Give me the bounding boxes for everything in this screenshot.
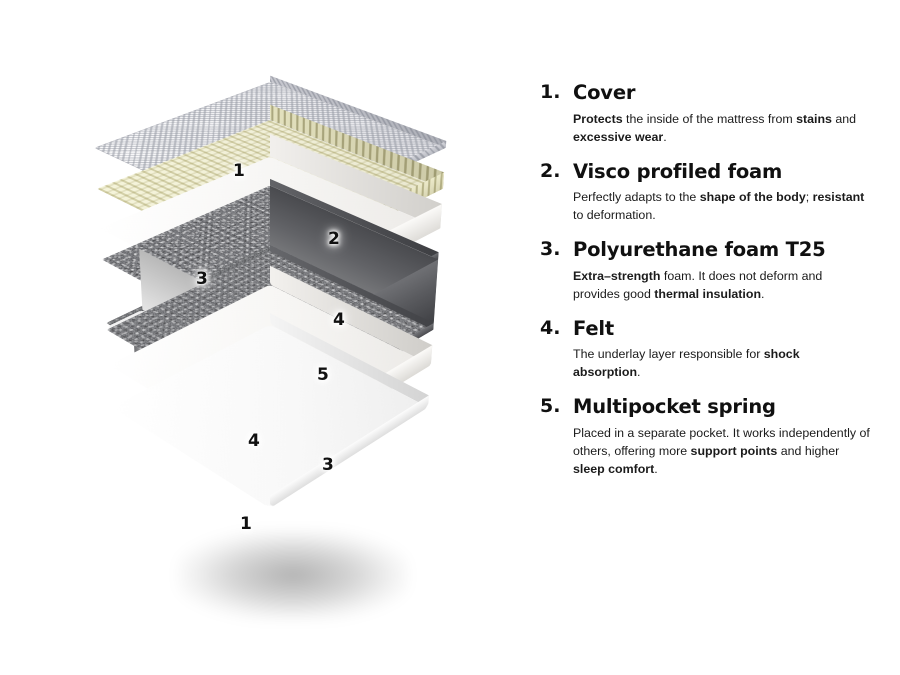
- legend-item-number: 3.: [540, 239, 573, 304]
- figure-label-visco-foam: 2: [328, 231, 340, 248]
- figure-label-cover-bottom: 1: [240, 516, 252, 533]
- figure-label-multipocket: 5: [317, 367, 329, 384]
- legend-item-1: 1.CoverProtects the inside of the mattre…: [540, 82, 870, 147]
- legend-item-description: Perfectly adapts to the shape of the bod…: [573, 189, 870, 225]
- infographic-root: 12345431 1.CoverProtects the inside of t…: [0, 0, 900, 675]
- legend-item-description: Protects the inside of the mattress from…: [573, 111, 870, 147]
- legend-item-3: 3.Polyurethane foam T25Extra–strength fo…: [540, 239, 870, 304]
- figure-label-pu-foam-bottom: 3: [322, 457, 334, 474]
- mattress-exploded-diagram: 12345431: [60, 60, 480, 620]
- figure-label-cover-top: 1: [233, 163, 245, 180]
- legend-item-5: 5.Multipocket springPlaced in a separate…: [540, 396, 870, 478]
- legend-item-number: 1.: [540, 82, 573, 147]
- legend-item-description: Placed in a separate pocket. It works in…: [573, 425, 870, 479]
- legend-item-title: Felt: [573, 318, 870, 340]
- legend-item-description: The underlay layer responsible for shock…: [573, 346, 870, 382]
- legend-item-number: 2.: [540, 161, 573, 226]
- legend-item-title: Visco profiled foam: [573, 161, 870, 183]
- legend-item-number: 5.: [540, 396, 573, 478]
- figure-label-felt-top: 4: [333, 312, 345, 329]
- mattress-layer-scene: [60, 60, 480, 620]
- legend-item-body: Multipocket springPlaced in a separate p…: [573, 396, 870, 478]
- figure-label-pu-foam-top: 3: [196, 271, 208, 288]
- legend-list: 1.CoverProtects the inside of the mattre…: [540, 82, 870, 483]
- figure-label-felt-bottom: 4: [248, 433, 260, 450]
- legend-item-body: CoverProtects the inside of the mattress…: [573, 82, 870, 147]
- legend-item-body: Visco profiled foamPerfectly adapts to t…: [573, 161, 870, 226]
- legend-item-title: Polyurethane foam T25: [573, 239, 870, 261]
- legend-item-title: Multipocket spring: [573, 396, 870, 418]
- legend-item-description: Extra–strength foam. It does not deform …: [573, 268, 870, 304]
- legend-item-number: 4.: [540, 318, 573, 383]
- legend-item-body: FeltThe underlay layer responsible for s…: [573, 318, 870, 383]
- legend-item-body: Polyurethane foam T25Extra–strength foam…: [573, 239, 870, 304]
- legend-item-title: Cover: [573, 82, 870, 104]
- legend-item-2: 2.Visco profiled foamPerfectly adapts to…: [540, 161, 870, 226]
- legend-item-4: 4.FeltThe underlay layer responsible for…: [540, 318, 870, 383]
